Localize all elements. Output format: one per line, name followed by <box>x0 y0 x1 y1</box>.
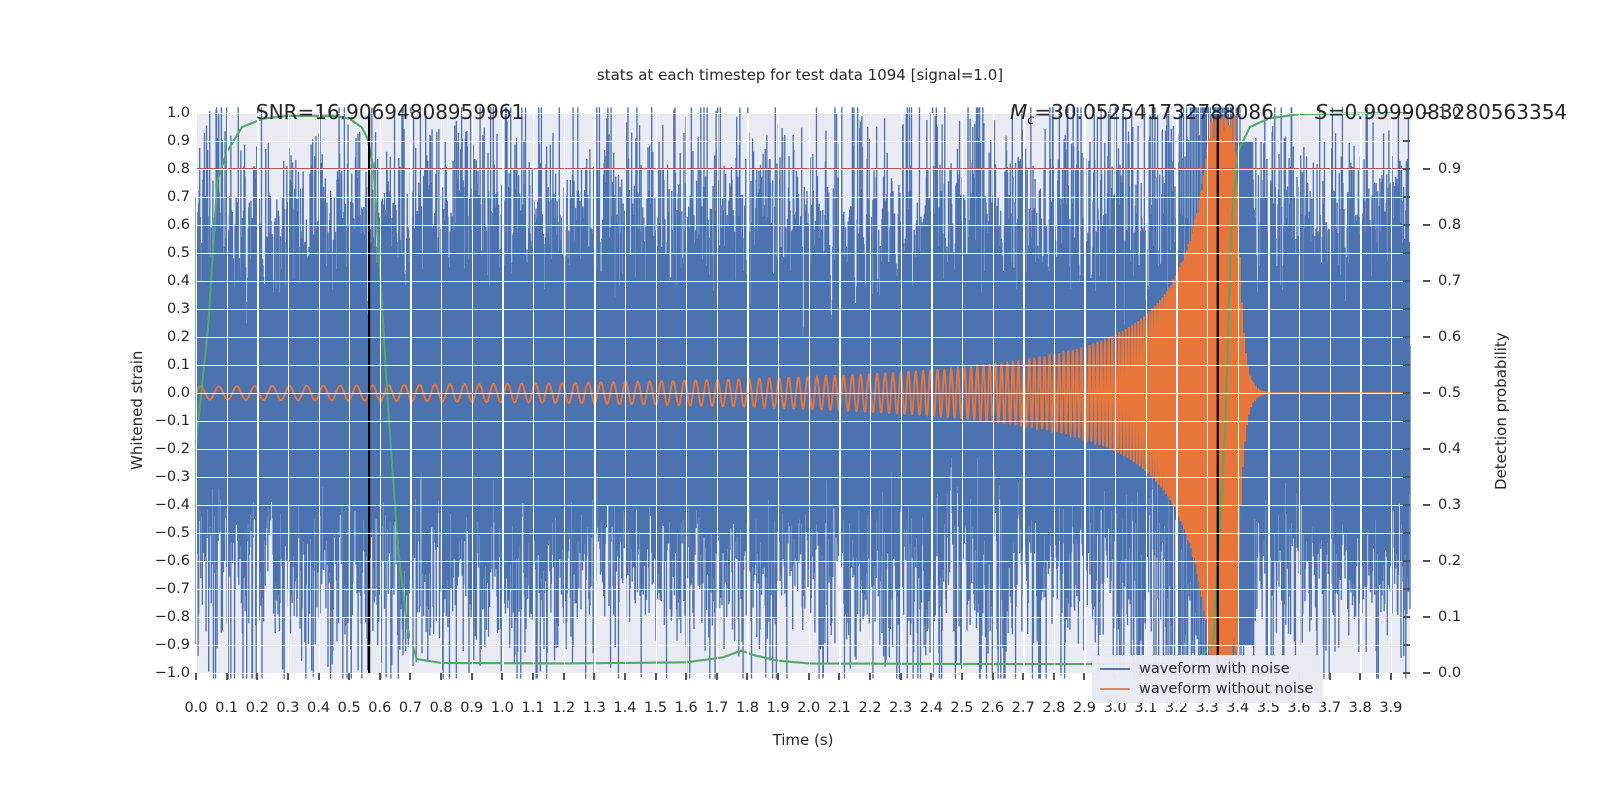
x-tick-label: 1.5 <box>644 700 667 716</box>
gridline-horizontal <box>196 589 1410 590</box>
y-tick-label-left: −1.0 <box>155 665 190 681</box>
x-tick-label: 0.9 <box>460 700 483 716</box>
y-tick-label-right: 0.1 <box>1438 609 1461 625</box>
legend[interactable]: waveform with noisewaveform without nois… <box>1092 655 1323 703</box>
chirp-mass-text: Mc=30.052541732788086 <box>1010 100 1274 124</box>
x-tick-label: 2.8 <box>1042 700 1065 716</box>
y-tick-label-left: −0.1 <box>155 413 190 429</box>
chirp-mass-annotation: Mc=30.052541732788086 <box>1010 100 1274 128</box>
gridline-horizontal <box>196 645 1410 646</box>
gridline-vertical <box>839 113 840 673</box>
gridline-vertical <box>1391 113 1392 673</box>
x-tick-label: 1.7 <box>705 700 728 716</box>
y-tick-mark-left <box>1403 476 1410 478</box>
gridline-horizontal <box>196 561 1410 562</box>
gridline-vertical <box>319 113 320 673</box>
gridline-horizontal <box>196 533 1410 534</box>
gridline-horizontal <box>196 617 1410 618</box>
x-tick-mark <box>808 673 810 680</box>
gridline-vertical <box>441 113 442 673</box>
gridline-vertical <box>257 113 258 673</box>
gridline-vertical <box>1023 113 1024 673</box>
x-tick-mark <box>471 673 473 680</box>
y-tick-label-left: 1.0 <box>167 105 190 121</box>
x-tick-mark <box>379 673 381 680</box>
gridline-horizontal <box>196 281 1410 282</box>
snr-text: SNR=16.90694808959961 <box>256 100 524 124</box>
gridline-vertical <box>1299 113 1300 673</box>
gridline-vertical <box>993 113 994 673</box>
gridline-vertical <box>594 113 595 673</box>
gridline-horizontal <box>196 449 1410 450</box>
x-tick-label: 3.9 <box>1379 700 1402 716</box>
x-tick-mark <box>1390 673 1392 680</box>
y-tick-label-left: −0.3 <box>155 469 190 485</box>
x-tick-label: 0.6 <box>368 700 391 716</box>
gridline-vertical <box>1054 113 1055 673</box>
x-tick-mark <box>1359 673 1361 680</box>
x-tick-label: 1.0 <box>491 700 514 716</box>
y-tick-label-right: 0.4 <box>1438 441 1461 457</box>
y-tick-mark-right <box>1423 168 1430 170</box>
x-tick-mark <box>287 673 289 680</box>
gridline-vertical <box>227 113 228 673</box>
gridline-vertical <box>1360 113 1361 673</box>
gridline-vertical <box>196 113 197 673</box>
y-tick-label-right: 0.5 <box>1438 385 1461 401</box>
x-tick-mark <box>1329 673 1331 680</box>
legend-label: waveform with noise <box>1139 661 1290 677</box>
legend-swatch-icon <box>1100 668 1130 671</box>
gridline-vertical <box>410 113 411 673</box>
gridline-vertical <box>1176 113 1177 673</box>
chart-title: stats at each timestep for test data 109… <box>0 66 1600 84</box>
gridline-horizontal <box>196 421 1410 422</box>
gridline-vertical <box>533 113 534 673</box>
y-tick-label-left: −0.5 <box>155 525 190 541</box>
x-tick-label: 2.0 <box>797 700 820 716</box>
y-tick-mark-right <box>1423 224 1430 226</box>
y-tick-mark-left <box>1403 448 1410 450</box>
y-axis-label-left: Whitened strain <box>128 351 146 470</box>
gridline-vertical <box>1115 113 1116 673</box>
y-tick-mark-left <box>1403 140 1410 142</box>
x-tick-mark <box>440 673 442 680</box>
x-tick-mark <box>624 673 626 680</box>
y-tick-mark-left <box>1403 560 1410 562</box>
gridline-vertical <box>1084 113 1085 673</box>
legend-item-0[interactable]: waveform with noise <box>1100 661 1313 677</box>
y-tick-mark-right <box>1423 672 1430 674</box>
y-tick-label-left: 0.0 <box>167 385 190 401</box>
y-tick-mark-right <box>1423 280 1430 282</box>
y-tick-label-right: 0.8 <box>1438 217 1461 233</box>
y-tick-label-left: −0.9 <box>155 637 190 653</box>
gridline-vertical <box>686 113 687 673</box>
y-axis-label-right: Detection probability <box>1492 332 1510 490</box>
x-tick-mark <box>409 673 411 680</box>
gridline-vertical <box>380 113 381 673</box>
y-tick-mark-right <box>1423 560 1430 562</box>
x-tick-label: 2.5 <box>950 700 973 716</box>
y-tick-mark-right <box>1423 392 1430 394</box>
y-tick-mark-left <box>1403 644 1410 646</box>
x-tick-mark <box>777 673 779 680</box>
x-tick-mark <box>1053 673 1055 680</box>
gridline-vertical <box>288 113 289 673</box>
gridline-vertical <box>901 113 902 673</box>
y-tick-mark-left <box>1403 364 1410 366</box>
y-tick-label-left: 0.3 <box>167 301 190 317</box>
y-tick-label-left: 0.6 <box>167 217 190 233</box>
gridline-vertical <box>962 113 963 673</box>
gridline-horizontal <box>196 141 1410 142</box>
y-tick-mark-right <box>1423 616 1430 618</box>
y-tick-label-left: −0.7 <box>155 581 190 597</box>
y-tick-label-right: 0.9 <box>1438 161 1461 177</box>
gridline-horizontal <box>196 253 1410 254</box>
x-tick-mark <box>838 673 840 680</box>
y-tick-mark-left <box>1403 672 1410 674</box>
x-tick-label: 2.1 <box>828 700 851 716</box>
y-tick-label-left: −0.2 <box>155 441 190 457</box>
y-tick-label-right: 0.6 <box>1438 329 1461 345</box>
x-tick-mark <box>746 673 748 680</box>
x-tick-label: 0.4 <box>307 700 330 716</box>
x-tick-mark <box>1022 673 1024 680</box>
x-tick-label: 0.5 <box>338 700 361 716</box>
legend-item-1[interactable]: waveform without noise <box>1100 681 1313 697</box>
gridline-vertical <box>625 113 626 673</box>
gridline-horizontal <box>196 505 1410 506</box>
x-tick-mark <box>348 673 350 680</box>
x-tick-mark <box>716 673 718 680</box>
gridline-vertical <box>349 113 350 673</box>
x-tick-label: 2.3 <box>889 700 912 716</box>
gridline-vertical <box>717 113 718 673</box>
x-tick-mark <box>655 673 657 680</box>
y-tick-label-left: 0.1 <box>167 357 190 373</box>
gridline-vertical <box>1207 113 1208 673</box>
x-tick-label: 1.8 <box>736 700 759 716</box>
y-tick-mark-left <box>1403 504 1410 506</box>
y-tick-mark-left <box>1403 252 1410 254</box>
x-tick-label: 2.4 <box>920 700 943 716</box>
y-tick-label-left: 0.8 <box>167 161 190 177</box>
y-tick-label-right: 0.0 <box>1438 665 1461 681</box>
x-tick-label: 1.3 <box>583 700 606 716</box>
x-tick-mark <box>869 673 871 680</box>
gridline-vertical <box>870 113 871 673</box>
x-tick-mark <box>256 673 258 680</box>
gridline-horizontal <box>196 197 1410 198</box>
x-tick-mark <box>900 673 902 680</box>
y-tick-label-left: −0.8 <box>155 609 190 625</box>
gridline-vertical <box>502 113 503 673</box>
x-tick-label: 1.6 <box>675 700 698 716</box>
x-tick-mark <box>1083 673 1085 680</box>
y-tick-mark-left <box>1403 392 1410 394</box>
x-tick-label: 3.8 <box>1349 700 1372 716</box>
y-tick-mark-left <box>1403 420 1410 422</box>
significance-annotation: S=0.9999083280563354 <box>1315 100 1567 124</box>
y-tick-mark-left <box>1403 196 1410 198</box>
gridline-horizontal <box>196 365 1410 366</box>
y-tick-mark-left <box>1403 168 1410 170</box>
x-tick-label: 1.9 <box>767 700 790 716</box>
legend-label: waveform without noise <box>1139 681 1313 697</box>
x-tick-label: 1.1 <box>521 700 544 716</box>
x-tick-mark <box>318 673 320 680</box>
gridline-vertical <box>1268 113 1269 673</box>
y-tick-label-left: 0.7 <box>167 189 190 205</box>
x-axis-label: Time (s) <box>196 731 1410 749</box>
x-tick-label: 0.7 <box>399 700 422 716</box>
x-tick-label: 0.0 <box>184 700 207 716</box>
y-tick-mark-left <box>1403 532 1410 534</box>
y-tick-mark-left <box>1403 224 1410 226</box>
gridline-vertical <box>778 113 779 673</box>
y-tick-mark-right <box>1423 336 1430 338</box>
gridline-vertical <box>1146 113 1147 673</box>
x-tick-mark <box>930 673 932 680</box>
gridline-horizontal <box>196 393 1410 394</box>
x-tick-label: 2.6 <box>981 700 1004 716</box>
x-tick-mark <box>501 673 503 680</box>
significance-text: S=0.9999083280563354 <box>1315 100 1567 124</box>
gridline-vertical <box>747 113 748 673</box>
x-tick-mark <box>992 673 994 680</box>
gridline-vertical <box>564 113 565 673</box>
gridline-vertical <box>1330 113 1331 673</box>
plot-area <box>196 113 1410 673</box>
y-tick-label-left: 0.2 <box>167 329 190 345</box>
gridline-vertical <box>656 113 657 673</box>
x-tick-label: 0.2 <box>246 700 269 716</box>
x-tick-mark <box>961 673 963 680</box>
x-tick-label: 1.2 <box>552 700 575 716</box>
x-tick-label: 0.1 <box>215 700 238 716</box>
y-tick-mark-left <box>1403 280 1410 282</box>
y-tick-label-left: 0.5 <box>167 245 190 261</box>
gridline-horizontal <box>196 169 1410 170</box>
x-tick-mark <box>532 673 534 680</box>
x-tick-label: 2.2 <box>858 700 881 716</box>
gridline-vertical <box>1238 113 1239 673</box>
y-tick-mark-left <box>1403 588 1410 590</box>
y-tick-mark-left <box>1403 616 1410 618</box>
y-tick-label-left: −0.6 <box>155 553 190 569</box>
gridline-horizontal <box>196 309 1410 310</box>
x-tick-mark <box>563 673 565 680</box>
y-tick-mark-left <box>1403 308 1410 310</box>
gridline-horizontal <box>196 225 1410 226</box>
y-tick-mark-left <box>1403 336 1410 338</box>
x-tick-mark <box>195 673 197 680</box>
y-tick-label-left: 0.9 <box>167 133 190 149</box>
y-tick-label-right: 0.2 <box>1438 553 1461 569</box>
x-tick-label: 0.3 <box>276 700 299 716</box>
gridline-horizontal <box>196 337 1410 338</box>
y-tick-label-right: 0.7 <box>1438 273 1461 289</box>
x-tick-mark <box>226 673 228 680</box>
y-tick-label-left: −0.4 <box>155 497 190 513</box>
x-tick-mark <box>685 673 687 680</box>
figure: stats at each timestep for test data 109… <box>0 0 1600 800</box>
gridline-vertical <box>472 113 473 673</box>
x-tick-mark <box>593 673 595 680</box>
x-tick-label: 1.4 <box>613 700 636 716</box>
gridline-vertical <box>931 113 932 673</box>
y-tick-label-left: 0.4 <box>167 273 190 289</box>
legend-swatch-icon <box>1100 688 1130 691</box>
y-tick-mark-right <box>1423 504 1430 506</box>
snr-annotation: SNR=16.90694808959961 <box>256 100 524 124</box>
x-tick-label: 2.7 <box>1012 700 1035 716</box>
gridline-vertical <box>809 113 810 673</box>
y-tick-label-right: 0.3 <box>1438 497 1461 513</box>
x-tick-label: 0.8 <box>430 700 453 716</box>
y-tick-mark-right <box>1423 448 1430 450</box>
gridline-horizontal <box>196 477 1410 478</box>
